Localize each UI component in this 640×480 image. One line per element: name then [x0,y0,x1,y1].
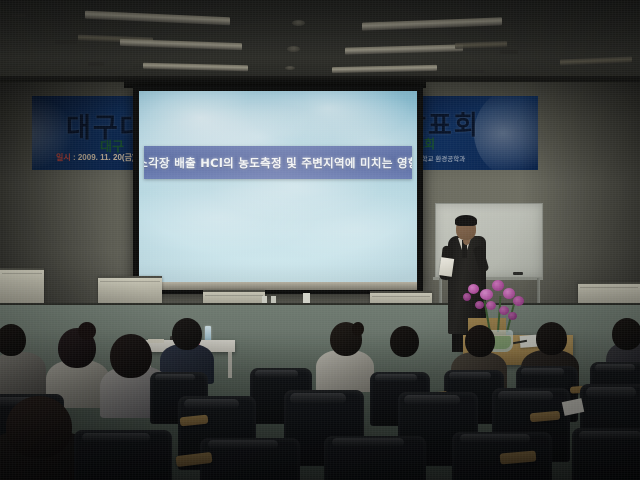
orchid-bloom [492,280,504,291]
ceiling-vent [470,70,484,73]
presenter-handout-papers [439,257,454,277]
ceiling-vent [88,62,104,66]
presenter-hair [455,215,477,226]
side-table-leg [228,352,232,378]
auditorium-seat[interactable] [572,428,640,480]
ceiling-vent [500,50,518,54]
recessed-downlight-icon [287,46,300,52]
attendee-head [6,396,72,458]
table-papers [148,339,164,343]
orchid-bloom [480,289,493,300]
orchid-bloom [513,296,524,306]
attendee-head [536,322,567,355]
auditorium-seat[interactable] [200,438,300,480]
orchid-bloom [475,301,484,309]
attendee-head [465,325,495,357]
slide-title-bar: 소각장 배출 HCl의 농도측정 및 주변지역에 미치는 영향 [144,146,412,179]
attendee-hair-bun [352,322,364,336]
auditorium-seat[interactable] [324,436,426,480]
orchid-bloom [463,293,471,301]
attendee-shoulders [0,352,46,396]
attendee-shoulders [316,350,374,392]
attendee-head [0,324,26,356]
attendee-head [390,326,419,357]
screen-bottom-bar [139,282,417,290]
attendee-head [110,334,152,378]
auditorium-seat[interactable] [74,430,172,480]
orchid-bloom [508,312,517,320]
ceiling-vent [552,30,566,34]
ceiling-vent [55,40,77,44]
projected-slide: 소각장 배출 HCl의 농도측정 및 주변지역에 미치는 영향 [139,91,417,282]
photo-scene: 대구대 대구 일시 : 2009. 11. 20(금) 발표회 발표회 : 대구… [0,0,640,480]
attendee-head [612,318,640,350]
ceiling-vent [12,14,26,17]
orchid-bloom [486,301,496,310]
screen-glow-overlay [139,91,417,282]
recessed-downlight-icon [292,20,305,26]
whiteboard-marker [513,272,523,275]
attendee-head [172,318,202,350]
attendee-hair-bun [78,322,96,340]
orchid-bloom [468,284,479,294]
projection-screen: 소각장 배출 HCl의 농도측정 및 주변지역에 미치는 영향 [133,86,423,294]
recessed-downlight-icon [285,66,295,70]
slide-title-text: 소각장 배출 HCl의 농도측정 및 주변지역에 미치는 영향 [144,155,412,171]
